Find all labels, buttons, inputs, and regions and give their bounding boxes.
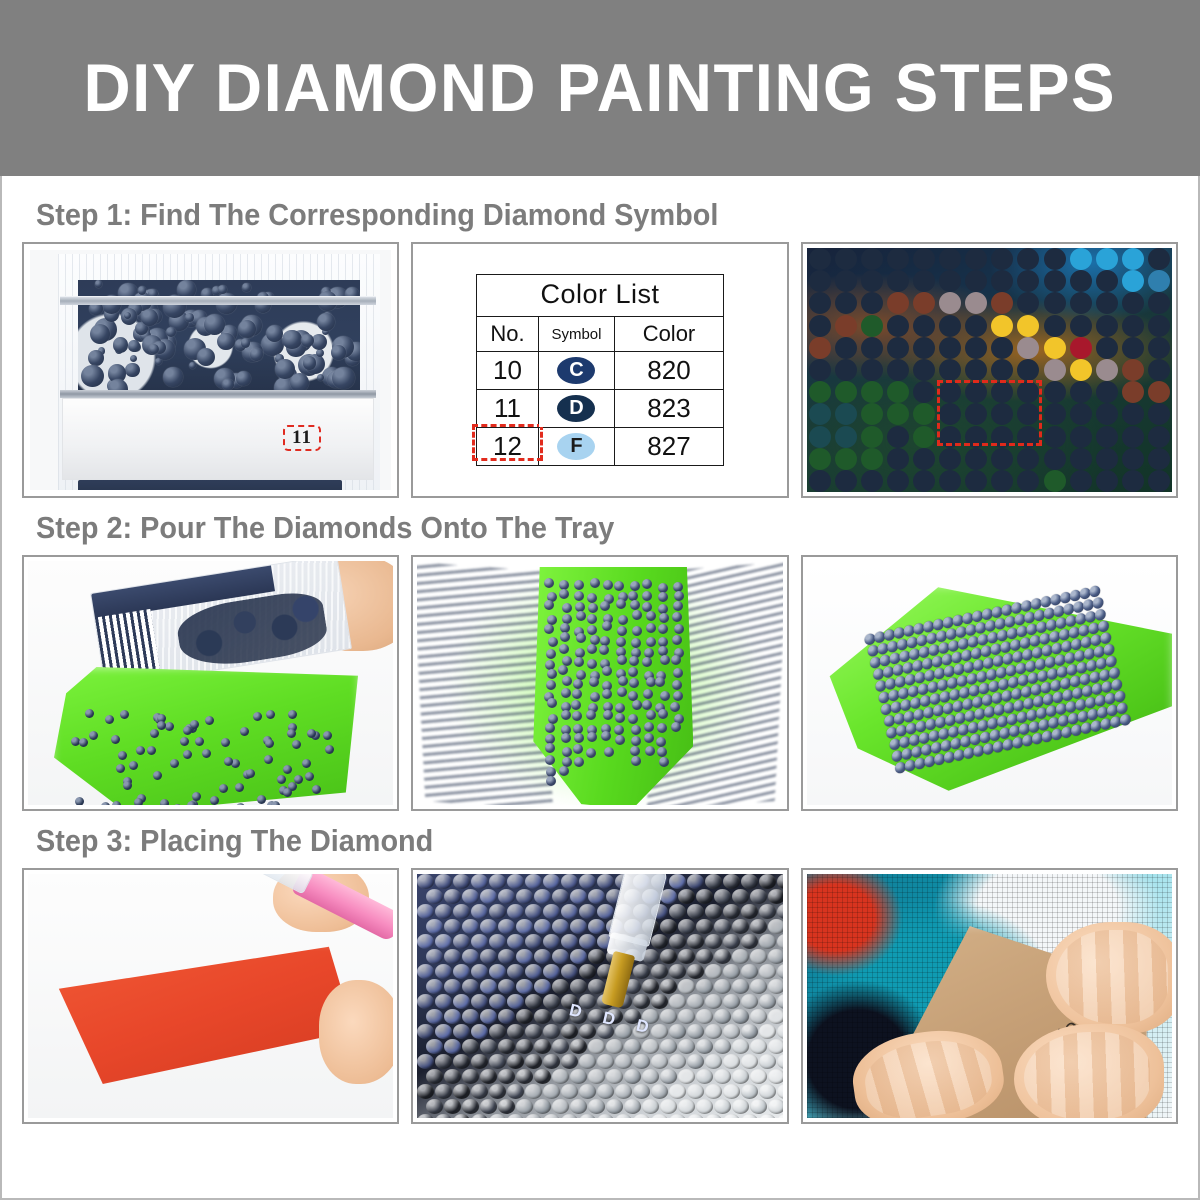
- grid-cell-dot: [991, 359, 1013, 381]
- diamond-bead: [642, 657, 652, 667]
- diamond-bead: [588, 603, 598, 613]
- diamond-bead: [204, 314, 225, 335]
- grid-cell: G: [911, 403, 937, 425]
- grid-cell: D: [963, 448, 989, 470]
- placed-diamond: [444, 919, 461, 934]
- placed-diamond: [426, 1009, 443, 1024]
- placed-diamond: [732, 919, 749, 934]
- diamond-bead: [222, 379, 234, 390]
- placed-diamond: [597, 1054, 614, 1069]
- grid-cell: D: [937, 315, 963, 337]
- grid-cell-dot: [887, 470, 909, 492]
- placed-diamond: [777, 904, 782, 919]
- diamond-bead: [614, 581, 624, 591]
- grid-cell: D: [833, 248, 859, 270]
- grid-cell-dot: [1017, 270, 1039, 292]
- grid-cell: D: [885, 425, 911, 447]
- grid-cell: G: [859, 315, 885, 337]
- grid-cell-dot: [1122, 270, 1144, 292]
- placed-diamond: [525, 1024, 542, 1039]
- diamond-bead: [631, 638, 641, 648]
- placed-diamond: [453, 934, 470, 949]
- placed-diamond: [768, 1009, 782, 1024]
- grid-cell-dot: [965, 248, 987, 270]
- grid-cell-dot: [887, 270, 909, 292]
- diamond-bead: [195, 737, 204, 746]
- placed-diamond: [543, 1024, 560, 1039]
- placed-diamond: [687, 874, 704, 889]
- diamond-bead: [674, 591, 684, 601]
- diamond-bead: [660, 655, 670, 665]
- placed-diamond: [516, 979, 533, 994]
- diamond-bead: [185, 313, 194, 322]
- grid-cell-dot: [835, 381, 857, 403]
- diamond-bead: [219, 784, 228, 793]
- placed-diamond: [462, 1039, 479, 1054]
- diamond-bead: [562, 747, 572, 757]
- step-2-block: Step 2: Pour The Diamonds Onto The Tray: [22, 510, 1178, 811]
- placed-diamond: [489, 964, 506, 979]
- diamond-bead: [544, 624, 554, 634]
- diamond-bead: [572, 689, 582, 699]
- grid-cell-dot: [1096, 448, 1118, 470]
- placed-diamond: [471, 1024, 488, 1039]
- diamond-bead: [210, 796, 219, 805]
- grid-cell: S: [807, 425, 833, 447]
- placed-diamond: [777, 994, 782, 1009]
- placed-diamond: [696, 1069, 713, 1084]
- placed-diamond: [705, 934, 722, 949]
- grid-cell-dot: [965, 381, 987, 403]
- diamond-bead: [673, 668, 683, 678]
- grid-cell: C: [1042, 248, 1068, 270]
- placed-diamond: [507, 994, 524, 1009]
- diamond-bead: [658, 624, 668, 634]
- grid-cell-dot: [913, 270, 935, 292]
- placed-diamond: [705, 994, 722, 1009]
- diamond-bead: [617, 655, 627, 665]
- grid-cell: D: [989, 470, 1015, 492]
- grid-cell: D: [807, 248, 833, 270]
- placed-diamond: [750, 949, 767, 964]
- placed-diamond: [687, 934, 704, 949]
- placed-diamond: [759, 1024, 776, 1039]
- grid-cell: D: [859, 292, 885, 314]
- step-3-heading: Step 3: Placing The Diamond: [36, 823, 1098, 859]
- grid-cell: D: [1094, 315, 1120, 337]
- grid-cell: D: [859, 359, 885, 381]
- diamond-bead: [559, 589, 569, 599]
- color-list-row: 10C820: [476, 352, 723, 390]
- grid-cell-dot: [991, 381, 1013, 403]
- grid-cell: D: [859, 470, 885, 492]
- diamond-bead: [128, 340, 140, 352]
- diamond-bead: [646, 637, 656, 647]
- grid-cell-dot: [1044, 248, 1066, 270]
- placed-diamond: [417, 1114, 434, 1118]
- diamond-bead: [673, 691, 683, 701]
- diamond-bead: [173, 804, 182, 805]
- placed-diamond: [651, 1084, 668, 1099]
- placed-diamond: [561, 964, 578, 979]
- placed-diamond: [777, 1084, 782, 1099]
- grid-cell: D: [989, 381, 1015, 403]
- placed-diamond: [651, 1054, 668, 1069]
- grid-cell: D: [885, 270, 911, 292]
- diamond-bead: [632, 626, 642, 636]
- placed-diamond: [435, 994, 452, 1009]
- diamond-bead: [672, 680, 682, 690]
- column-header-no: No.: [476, 317, 538, 352]
- placed-diamond: [669, 904, 686, 919]
- grid-cell: D: [937, 470, 963, 492]
- diamond-bead: [187, 801, 196, 805]
- placed-diamond: [759, 934, 776, 949]
- placed-diamond: [579, 1114, 596, 1118]
- motion-blur-left: [417, 562, 553, 805]
- placed-diamond: [669, 1114, 686, 1118]
- diamond-bead: [246, 769, 255, 778]
- placed-diamond: [507, 904, 524, 919]
- diamond-bead: [952, 749, 964, 762]
- grid-cell-dot: [861, 292, 883, 314]
- grid-cell: D: [911, 337, 937, 359]
- grid-cell-dot: [1148, 248, 1170, 270]
- diamond-bead: [631, 725, 641, 735]
- placed-diamond: [435, 964, 452, 979]
- grid-cell-dot: [991, 337, 1013, 359]
- grid-cell: D: [989, 359, 1015, 381]
- grid-cell-dot: [809, 337, 831, 359]
- grid-cell: R: [937, 292, 963, 314]
- placed-diamond: [498, 1099, 515, 1114]
- grid-cell: D: [963, 359, 989, 381]
- diamond-bead: [631, 756, 641, 766]
- grid-cell-dot: [861, 337, 883, 359]
- diamond-bead: [292, 740, 301, 749]
- placed-diamond: [426, 1099, 443, 1114]
- diamond-bead: [544, 578, 554, 588]
- grid-cell: D: [1094, 448, 1120, 470]
- grid-cell: D: [1094, 425, 1120, 447]
- diamond-bead: [197, 348, 215, 366]
- placed-diamond: [561, 1114, 578, 1118]
- grid-cell: D: [911, 470, 937, 492]
- bag-zip-seal: [60, 296, 376, 305]
- diamond-bead: [331, 345, 346, 360]
- grid-cell: D: [1094, 470, 1120, 492]
- grid-cell-dot: [1070, 381, 1092, 403]
- placed-diamond: [525, 994, 542, 1009]
- bag-label-number: 11: [283, 425, 321, 451]
- grid-cell-dot: [887, 315, 909, 337]
- diamond-bead: [659, 613, 669, 623]
- grid-cell-dot: [835, 359, 857, 381]
- grid-cell-dot: [1148, 337, 1170, 359]
- grid-cell: D: [1120, 425, 1146, 447]
- placed-diamond: [444, 979, 461, 994]
- placed-diamond: [480, 1009, 497, 1024]
- placed-diamond: [525, 874, 542, 889]
- grid-cell-dot: [1017, 426, 1039, 448]
- placed-diamond: [552, 1039, 569, 1054]
- aligned-tray-photo: [801, 555, 1178, 811]
- grid-cell: D: [1042, 448, 1068, 470]
- placed-diamond: [507, 1024, 524, 1039]
- diamond-bead: [923, 755, 935, 768]
- grid-cell: D: [807, 359, 833, 381]
- diamond-bead: [264, 755, 273, 764]
- placed-diamond: [525, 1084, 542, 1099]
- diamond-bead: [153, 771, 162, 780]
- placed-diamond: [453, 1024, 470, 1039]
- color-list-table: Color List No. Symbol Color 10C82011D823…: [476, 274, 724, 466]
- placed-diamond: [534, 1099, 551, 1114]
- diamond-bead: [991, 740, 1003, 753]
- diamond-bead: [71, 737, 80, 746]
- diamond-bead: [599, 645, 609, 655]
- diamond-bead: [112, 801, 121, 805]
- grid-cell-dot: [887, 248, 909, 270]
- grid-cell: D: [1120, 470, 1146, 492]
- diamond-bead: [615, 703, 625, 713]
- placed-diamond: [660, 1069, 677, 1084]
- placed-diamond: [768, 1039, 782, 1054]
- diamond-bead: [147, 746, 156, 755]
- placed-diamond: [669, 934, 686, 949]
- grid-cell-dot: [1122, 470, 1144, 492]
- placed-diamond: [588, 1039, 605, 1054]
- grid-cell-dot: [939, 337, 961, 359]
- grid-cell: D: [1094, 403, 1120, 425]
- grid-cell-dot: [965, 337, 987, 359]
- placed-diamond: [678, 1009, 695, 1024]
- placed-diamond: [570, 949, 587, 964]
- placed-diamond: [471, 904, 488, 919]
- placed-diamond: [579, 934, 596, 949]
- placed-diamond: [777, 1114, 782, 1118]
- diamond-bead: [546, 649, 556, 659]
- grid-cell-dot: [861, 403, 883, 425]
- placed-diamond: [525, 1054, 542, 1069]
- placed-diamond: [732, 979, 749, 994]
- grid-cell: D: [911, 248, 937, 270]
- grid-cell-dot: [1096, 315, 1118, 337]
- grid-cell: D: [937, 337, 963, 359]
- placed-diamond: [462, 1099, 479, 1114]
- placed-diamond: [777, 1024, 782, 1039]
- grid-cell: G: [1042, 470, 1068, 492]
- grid-cell-dot: [1044, 337, 1066, 359]
- diamond-bead: [646, 611, 656, 621]
- grid-cell-dot: [835, 448, 857, 470]
- placed-diamond: [462, 889, 479, 904]
- grid-cell: D: [1015, 425, 1041, 447]
- placed-diamond: [534, 1009, 551, 1024]
- placed-diamond: [750, 979, 767, 994]
- grid-cell-dot: [1096, 381, 1118, 403]
- pen-gold-tip: [601, 951, 635, 1009]
- grid-cell-dot: [991, 448, 1013, 470]
- grid-cell: R: [963, 292, 989, 314]
- symbol-badge: C: [557, 357, 595, 384]
- grid-cell: D: [1068, 292, 1094, 314]
- diamond-bead: [615, 735, 625, 745]
- diamond-bead: [586, 748, 596, 758]
- diamond-bead: [574, 657, 584, 667]
- diamond-bead: [671, 722, 681, 732]
- press-notebook-photo: Note Book: [801, 868, 1178, 1124]
- diamond-bead: [629, 678, 639, 688]
- column-header-symbol: Symbol: [538, 317, 614, 352]
- bag-number-label: 11: [62, 398, 374, 480]
- placed-diamond: [723, 964, 740, 979]
- diamond-bead: [616, 637, 626, 647]
- diamond-bead: [257, 795, 266, 804]
- diamond-bead: [943, 751, 955, 764]
- placed-diamond: [444, 889, 461, 904]
- grid-cell: G: [833, 448, 859, 470]
- placed-diamond: [723, 994, 740, 1009]
- placed-diamond: [534, 1069, 551, 1084]
- grid-cell-dot: [1148, 359, 1170, 381]
- color-list-scene: Color List No. Symbol Color 10C82011D823…: [418, 249, 781, 491]
- placed-diamond: [777, 964, 782, 979]
- grid-cell-dot: [913, 381, 935, 403]
- diamond-bead: [192, 792, 201, 801]
- placed-diamond: [759, 994, 776, 1009]
- column-header-color: Color: [614, 317, 723, 352]
- placed-diamond: [660, 979, 677, 994]
- diamond-bead: [559, 644, 569, 654]
- placed-diamond: [705, 874, 722, 889]
- placing-scene: DDD: [417, 874, 782, 1118]
- grid-cell-dot: [965, 270, 987, 292]
- grid-cell: D: [885, 315, 911, 337]
- diamond-bead: [312, 785, 321, 794]
- placed-diamond: [543, 874, 560, 889]
- grid-cell-dot: [939, 292, 961, 314]
- placed-diamond: [714, 1069, 731, 1084]
- diamond-bead: [548, 637, 558, 647]
- diamond-bead: [1060, 726, 1072, 739]
- grid-cell-dot: [1096, 248, 1118, 270]
- grid-cell: D: [885, 337, 911, 359]
- grid-cell-dot: [887, 403, 909, 425]
- diamond-bead: [558, 665, 568, 675]
- diamond-bead: [218, 285, 227, 294]
- placed-diamond: [426, 919, 443, 934]
- bag-photo-scene: 11: [30, 250, 391, 490]
- grid-cell-dot: [1017, 337, 1039, 359]
- placed-diamond: [453, 904, 470, 919]
- diamond-bead: [202, 749, 211, 758]
- diamond-bead: [601, 731, 611, 741]
- placed-diamond: [516, 1099, 533, 1114]
- grid-cell: D: [963, 425, 989, 447]
- placed-diamond: [534, 949, 551, 964]
- diamond-bead: [105, 715, 114, 724]
- grid-cell-dot: [1017, 470, 1039, 492]
- diamond-bead: [574, 591, 584, 601]
- diamond-bead: [894, 761, 906, 774]
- placed-diamond: [723, 1114, 740, 1118]
- diamond-bead: [546, 680, 556, 690]
- placed-diamond: [543, 1054, 560, 1069]
- placed-diamond: [732, 1099, 749, 1114]
- placed-diamond: [588, 1069, 605, 1084]
- grid-cell: D: [1015, 270, 1041, 292]
- diamond-bead: [271, 801, 280, 805]
- bag-lower-diamonds: [78, 480, 342, 490]
- grid-cell: G: [885, 403, 911, 425]
- placed-diamond: [498, 889, 515, 904]
- aligned-tray-scene: [807, 561, 1172, 805]
- grid-cell: D: [807, 292, 833, 314]
- grid-cell: D: [1146, 425, 1172, 447]
- diamond-bead: [575, 648, 585, 658]
- grid-cell-dot: [1122, 381, 1144, 403]
- placed-diamond: [444, 1039, 461, 1054]
- placed-diamond: [678, 949, 695, 964]
- grid-cell-dot: [1017, 248, 1039, 270]
- placed-diamond: [750, 889, 767, 904]
- diamond-bead: [545, 755, 555, 765]
- grid-cell-dot: [913, 292, 935, 314]
- color-list-code: 823: [614, 390, 723, 428]
- diamond-bead: [562, 603, 572, 613]
- diamond-bead: [644, 722, 654, 732]
- placed-diamond: [561, 934, 578, 949]
- press-scene: Note Book: [807, 874, 1172, 1118]
- diamond-bead: [118, 751, 127, 760]
- diamond-bead: [573, 724, 583, 734]
- diamond-bead: [574, 580, 584, 590]
- diamond-bead: [170, 759, 179, 768]
- placed-diamond: [570, 889, 587, 904]
- symbol-grid: DDDDDDDDDCTTTCDDDDDDDDDDDCTQDDDHHRRHDDDD…: [807, 248, 1172, 492]
- grid-cell-dot: [1017, 292, 1039, 314]
- grid-cell: S: [833, 403, 859, 425]
- grid-cell-dot: [1017, 448, 1039, 470]
- grid-cell-dot: [1122, 248, 1144, 270]
- diamond-bead: [1031, 732, 1043, 745]
- grid-cell-dot: [809, 359, 831, 381]
- grid-cell: H: [1120, 359, 1146, 381]
- grid-cell: G: [807, 448, 833, 470]
- grid-cell-dot: [1070, 337, 1092, 359]
- placed-diamond: [687, 1114, 704, 1118]
- placed-diamond: [651, 994, 668, 1009]
- placed-diamond: [642, 1099, 659, 1114]
- grid-cell-dot: [965, 448, 987, 470]
- grid-cell-dot: [1096, 426, 1118, 448]
- placed-diamond: [480, 1039, 497, 1054]
- placed-diamond: [489, 904, 506, 919]
- grid-cell: D: [1068, 425, 1094, 447]
- grid-cell: R: [1015, 337, 1041, 359]
- diamond-bead: [590, 578, 600, 588]
- grid-cell: G: [859, 403, 885, 425]
- diamond-bead: [602, 689, 612, 699]
- grid-cell: D: [1015, 359, 1041, 381]
- grid-cell-dot: [861, 470, 883, 492]
- placed-diamond: [723, 1024, 740, 1039]
- grid-cell-dot: [861, 448, 883, 470]
- placed-diamond: [696, 889, 713, 904]
- diamond-bead: [1099, 717, 1111, 730]
- grid-cell: T: [1068, 248, 1094, 270]
